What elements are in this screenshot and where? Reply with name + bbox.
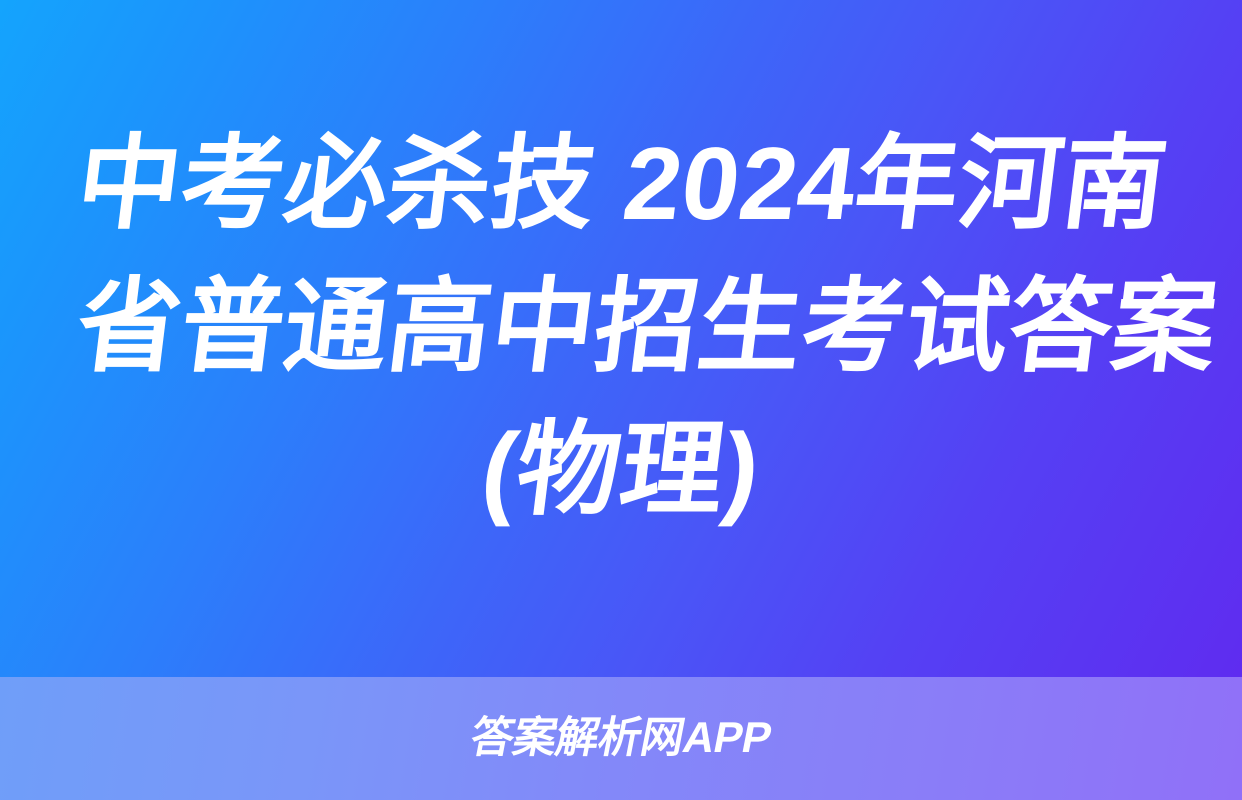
title-line-3: (物理) (69, 398, 1173, 541)
title-line-1: 中考必杀技 2024年河南 (69, 112, 1173, 255)
footer-watermark: 答案解析网APP (0, 677, 1242, 800)
poster-title: 中考必杀技 2024年河南 省普通高中招生考试答案 (物理) (0, 0, 1242, 677)
title-line-2: 省普通高中招生考试答案 (69, 255, 1173, 398)
footer-brand-label: 答案解析网APP (466, 714, 775, 764)
promo-banner: 中考必杀技 2024年河南 省普通高中招生考试答案 (物理) 答案解析网APP (0, 0, 1242, 800)
